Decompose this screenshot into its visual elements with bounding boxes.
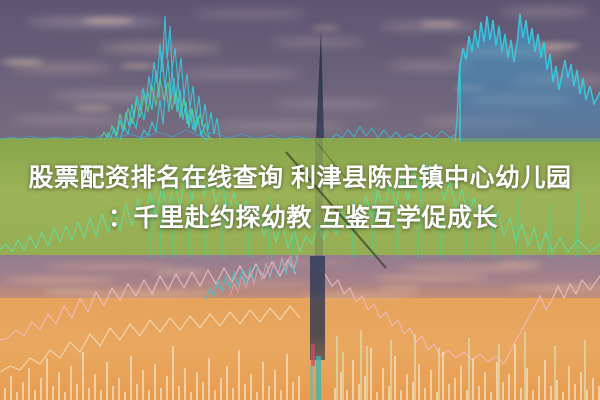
watermark-icon: ⓘ: [581, 379, 590, 392]
banner-image: 股票配资排名在线查询 利津县陈庄镇中心幼儿园 ：千里赴约探幼教 互鉴互学促成长 …: [0, 0, 600, 400]
haze-overlay: [0, 0, 600, 400]
